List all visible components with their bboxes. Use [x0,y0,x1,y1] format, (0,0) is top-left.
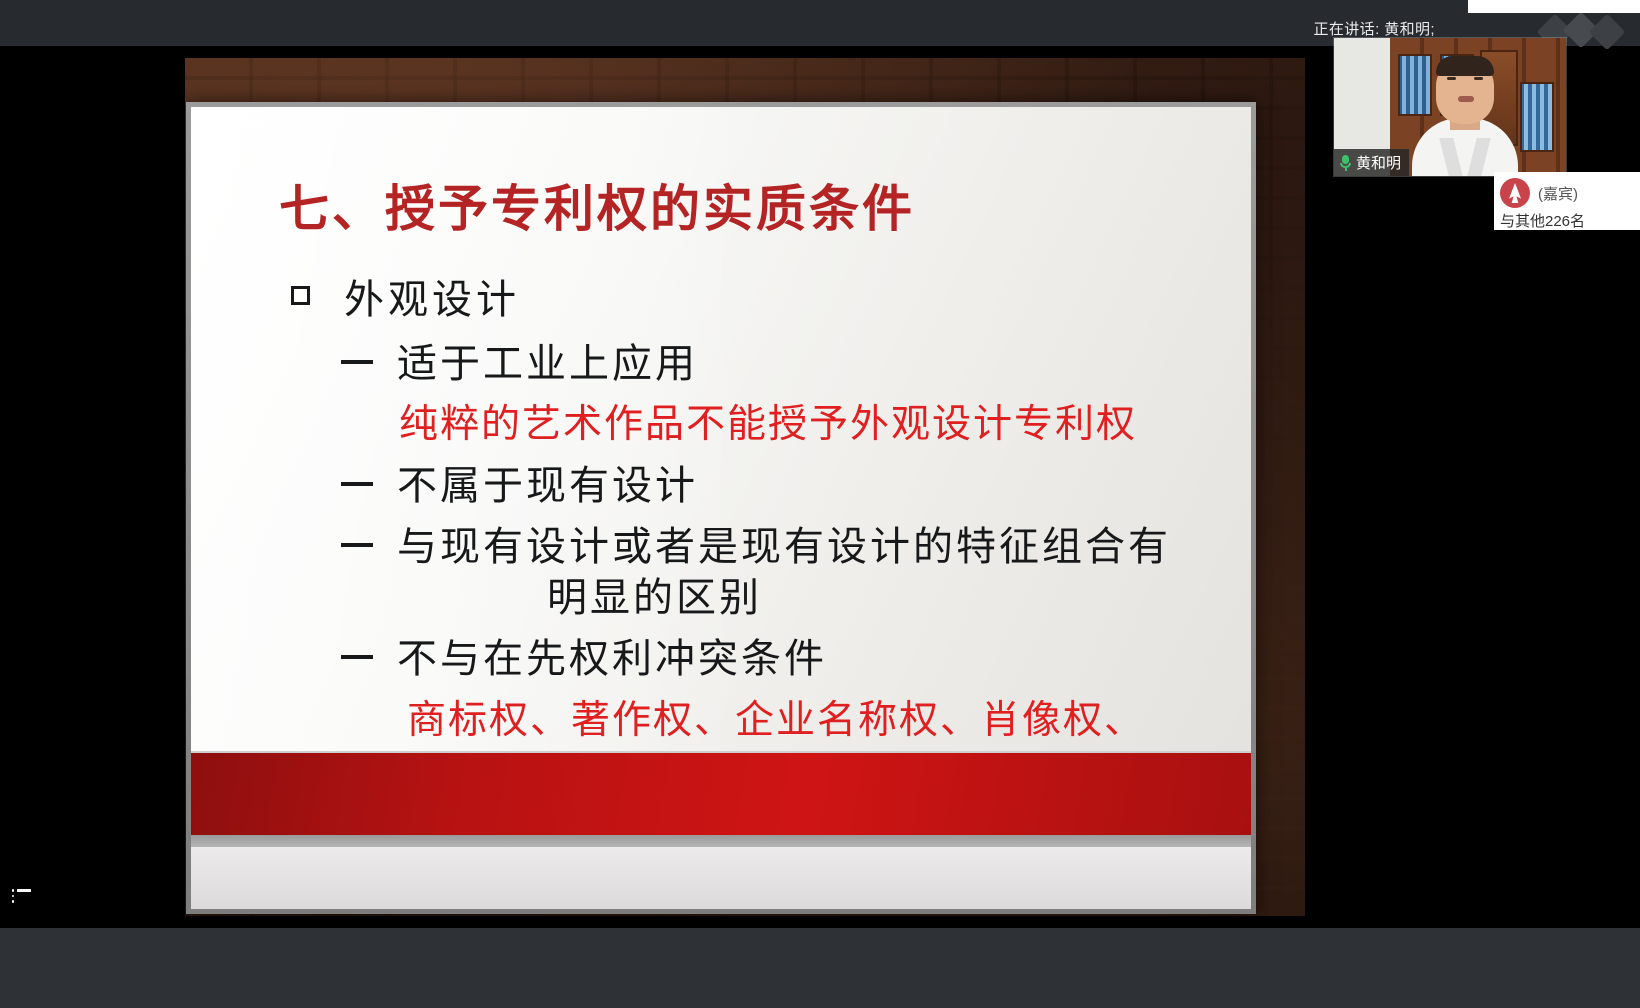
participant-guest-tag: (嘉宾) [1538,183,1578,204]
bullet-not-prior-design: 不属于现有设计 [341,461,1251,512]
slide-title: 七、授予专利权的实质条件 [279,169,915,241]
bullet-distinct-from-prior-design: 与现有设计或者是现有设计的特征组合有 明显的区别 [341,522,1251,624]
video-shelf-books-3 [1520,82,1554,152]
bullet-level1-label: 外观设计 [344,277,520,323]
slide-red-banner [191,751,1251,835]
slide-photo-backdrop: 七、授予专利权的实质条件 外观设计 适于工业上应用 纯粹的艺术作品不能授予外观设… [185,58,1305,916]
dash-bullet-icon [341,543,373,547]
slide-footer-area [191,847,1251,909]
participants-list-button[interactable] [4,882,38,910]
slide-gray-divider [191,835,1251,847]
active-speaker-video-tile[interactable]: 黄和明 [1334,38,1566,176]
bottom-chrome-bar [0,928,1640,1008]
bullet-no-conflict-with-prior-rights: 不与在先权利冲突条件 [341,634,1251,685]
shared-screen-stage[interactable]: 七、授予专利权的实质条件 外观设计 适于工业上应用 纯粹的艺术作品不能授予外观设… [0,46,1640,928]
bullet-label: 不与在先权利冲突条件 [397,636,827,682]
video-person-eye-left [1447,77,1456,80]
hollow-square-bullet-icon [291,286,310,305]
participant-row[interactable]: (嘉宾) [1500,178,1578,208]
participant-others-count[interactable]: 与其他226名 [1500,210,1585,230]
bullet-label: 与现有设计或者是现有设计的特征组合有 [397,524,1171,570]
slide-canvas: 七、授予专利权的实质条件 外观设计 适于工业上应用 纯粹的艺术作品不能授予外观设… [191,107,1251,909]
note-prior-rights-list: 商标权、著作权、企业名称权、肖像权、 [407,696,1251,747]
video-tile-name-label: 黄和明 [1356,152,1401,173]
microphone-icon [1339,154,1352,171]
projected-slide-frame: 七、授予专利权的实质条件 外观设计 适于工业上应用 纯粹的艺术作品不能授予外观设… [186,102,1256,914]
video-person-hair [1436,56,1494,76]
slide-bullet-list: 外观设计 适于工业上应用 纯粹的艺术作品不能授予外观设计专利权 不属于现有设计 … [191,267,1251,799]
video-shelf-books-1 [1398,54,1432,116]
bullet-label-continuation: 明显的区别 [547,573,1251,624]
video-person-eye-right [1474,77,1483,80]
screen-share-viewer: 正在讲话: 黄和明; 七、授予专利权的实质条件 外观设计 适于工业上应 [0,0,1640,1008]
video-tile-name-bar: 黄和明 [1334,149,1409,176]
video-person-mouth [1458,96,1474,102]
person-avatar-icon [1500,178,1530,208]
bullet-level1-outer-design: 外观设计 [291,267,1251,325]
bullet-label: 适于工业上应用 [397,341,698,387]
dash-bullet-icon [341,655,373,659]
note-pure-art-not-patentable: 纯粹的艺术作品不能授予外观设计专利权 [399,400,1251,451]
dash-bullet-icon [341,482,373,486]
participant-strip-card[interactable]: (嘉宾) 与其他226名 [1494,172,1640,230]
top-right-white-strip [1468,0,1640,13]
active-speaker-label: 正在讲话: 黄和明; [1313,18,1435,39]
dash-bullet-icon [341,360,373,364]
bullet-label: 不属于现有设计 [397,463,698,509]
bullet-industrial-application: 适于工业上应用 [341,339,1251,390]
participants-list-icon [12,889,31,903]
